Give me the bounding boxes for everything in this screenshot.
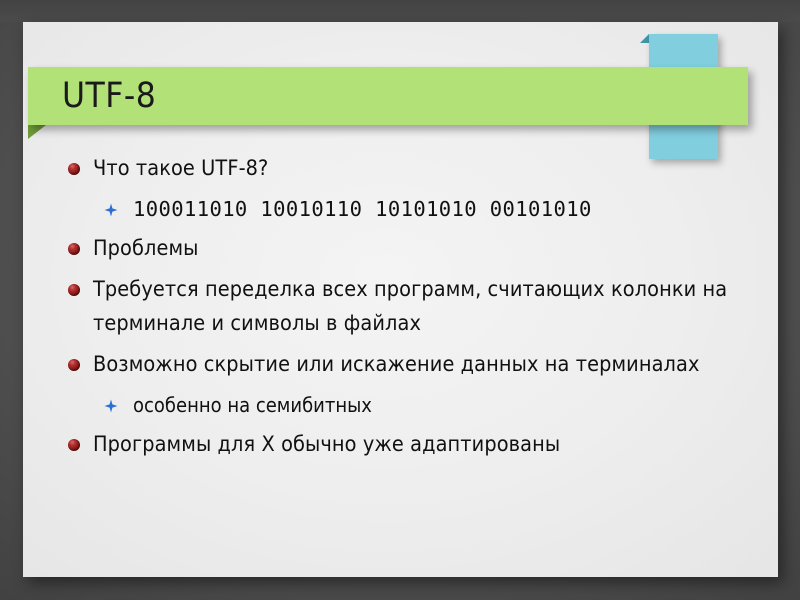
bullet-text: Возможно скрытие или искажение данных на… <box>93 348 700 382</box>
title-ribbon: UTF-8 <box>28 67 748 125</box>
bullet-text: особенно на семибитных <box>133 389 372 421</box>
bullet-dot-icon <box>68 284 80 296</box>
sub-bullet-item: 100011010 10010110 10101010 00101010 <box>46 193 800 225</box>
bullet-text: Что такое UTF-8? <box>93 152 268 186</box>
title-ribbon-fold-icon <box>28 125 46 139</box>
bullet-star-icon <box>104 399 118 413</box>
bullet-dot-icon <box>68 359 80 371</box>
bullet-text: Требуется переделка всех программ, счита… <box>93 273 783 341</box>
slide-body: Что такое UTF-8?100011010 10010110 10101… <box>46 152 800 469</box>
bullet-item: Требуется переделка всех программ, счита… <box>46 273 800 341</box>
bullet-dot-icon <box>68 163 80 175</box>
sub-bullet-item: особенно на семибитных <box>46 389 800 421</box>
blue-ribbon-fold-icon <box>640 34 649 43</box>
bullet-item: Возможно скрытие или искажение данных на… <box>46 348 800 382</box>
bullet-item: Что такое UTF-8? <box>46 152 800 186</box>
bullet-dot-icon <box>68 243 80 255</box>
slide-sheet: UTF-8 Что такое UTF-8?100011010 10010110… <box>23 22 778 577</box>
bullet-item: Проблемы <box>46 232 800 266</box>
bullet-item: Программы для X обычно уже адаптированы <box>46 428 800 462</box>
bullet-dot-icon <box>68 439 80 451</box>
presentation-stage: UTF-8 Что такое UTF-8?100011010 10010110… <box>0 0 800 600</box>
page-title: UTF-8 <box>28 79 156 114</box>
bullet-text: 100011010 10010110 10101010 00101010 <box>133 193 592 225</box>
bullet-star-icon <box>104 203 118 217</box>
bullet-text: Программы для X обычно уже адаптированы <box>93 428 560 462</box>
bullet-text: Проблемы <box>93 232 199 266</box>
